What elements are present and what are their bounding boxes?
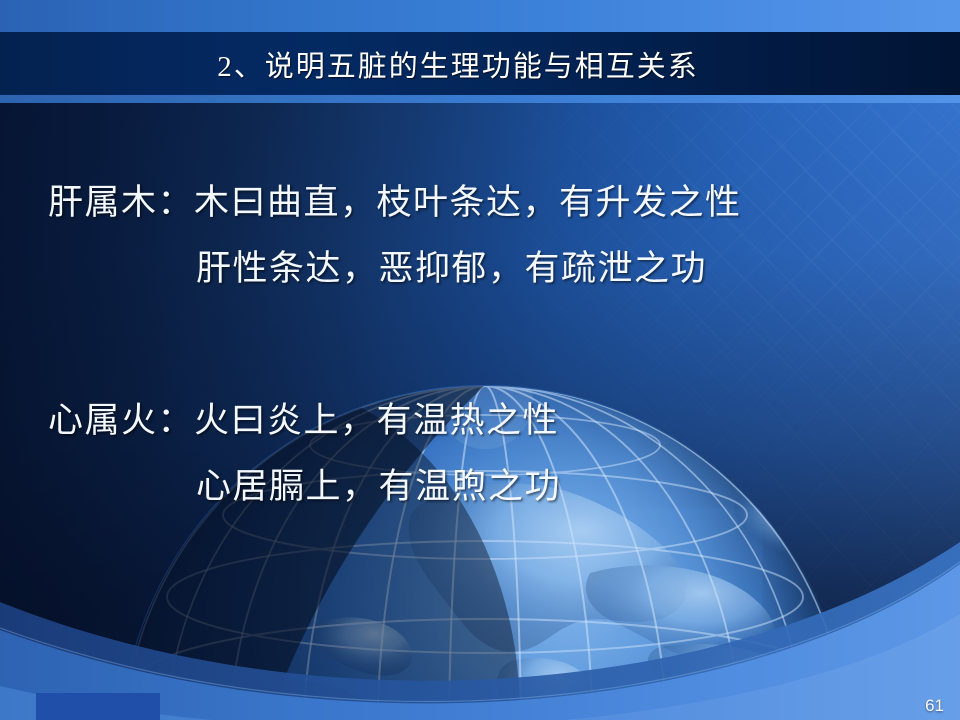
paragraph-heart: 心属火：火曰炎上，有温热之性 心居膈上，有温煦之功 xyxy=(0,388,960,520)
paragraph-liver-line-1: 肝属木：木曰曲直，枝叶条达，有升发之性 xyxy=(0,170,960,236)
slide-body: 肝属木：木曰曲直，枝叶条达，有升发之性 肝性条达，恶抑郁，有疏泄之功 心属火：火… xyxy=(0,170,960,520)
paragraph-liver: 肝属木：木曰曲直，枝叶条达，有升发之性 肝性条达，恶抑郁，有疏泄之功 xyxy=(0,170,960,302)
paragraph-heart-line-1: 心属火：火曰炎上，有温热之性 xyxy=(0,388,960,454)
corner-accent-rectangle xyxy=(36,693,160,720)
top-accent-strip xyxy=(0,0,960,32)
paragraph-liver-line-2: 肝性条达，恶抑郁，有疏泄之功 xyxy=(0,236,960,302)
paragraph-heart-line-2: 心居膈上，有温煦之功 xyxy=(0,454,960,520)
bottom-curve-swoosh xyxy=(0,490,960,720)
page-number: 61 xyxy=(925,696,944,716)
slide-title: 2、说明五脏的生理功能与相互关系 xyxy=(0,43,960,85)
slide: 2、说明五脏的生理功能与相互关系 肝属木：木曰曲直，枝叶条达，有升发之性 肝性条… xyxy=(0,0,960,720)
title-bar: 2、说明五脏的生理功能与相互关系 xyxy=(0,32,960,95)
title-underline-strip xyxy=(0,95,960,103)
